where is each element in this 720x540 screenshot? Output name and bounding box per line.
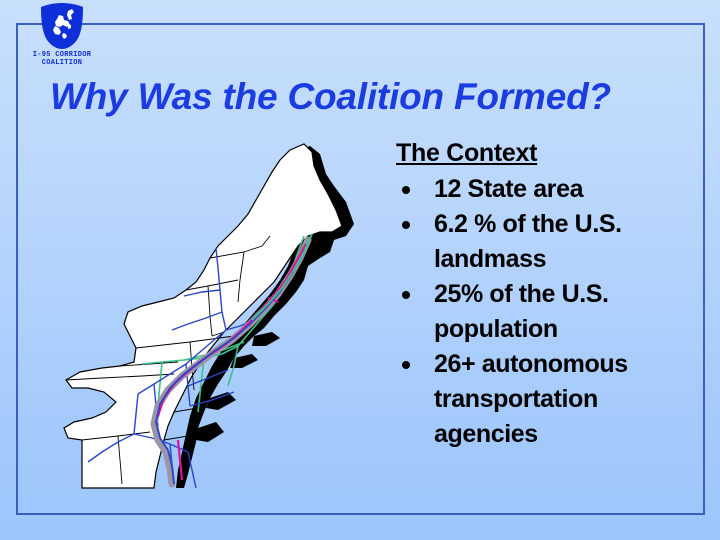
- northeast-corridor-map: [58, 140, 398, 495]
- list-item-label: 25% of the U.S. population: [434, 280, 609, 343]
- bullet-dot-icon: [402, 221, 410, 229]
- map-graphic: [58, 140, 398, 495]
- context-panel: The Context 12 State area 6.2 % of the U…: [396, 138, 696, 452]
- list-item: 6.2 % of the U.S. landmass: [396, 207, 696, 277]
- list-item: 26+ autonomous transportation agencies: [396, 347, 696, 452]
- list-item: 25% of the U.S. population: [396, 277, 696, 347]
- slide-canvas: I-95 CORRIDOR COALITION Why Was the Coal…: [0, 0, 720, 540]
- context-bullet-list: 12 State area 6.2 % of the U.S. landmass…: [396, 172, 696, 452]
- context-heading: The Context: [396, 138, 696, 168]
- logo-caption: I-95 CORRIDOR COALITION: [22, 51, 102, 67]
- bullet-dot-icon: [402, 186, 410, 194]
- bullet-dot-icon: [402, 361, 410, 369]
- list-item-label: 12 State area: [434, 175, 583, 203]
- page-title: Why Was the Coalition Formed?: [50, 76, 690, 118]
- interstate-shield-icon: [38, 2, 86, 50]
- bullet-dot-icon: [402, 291, 410, 299]
- coalition-logo: I-95 CORRIDOR COALITION: [22, 2, 102, 67]
- list-item-label: 6.2 % of the U.S. landmass: [434, 210, 622, 273]
- list-item: 12 State area: [396, 172, 696, 207]
- list-item-label: 26+ autonomous transportation agencies: [434, 350, 628, 448]
